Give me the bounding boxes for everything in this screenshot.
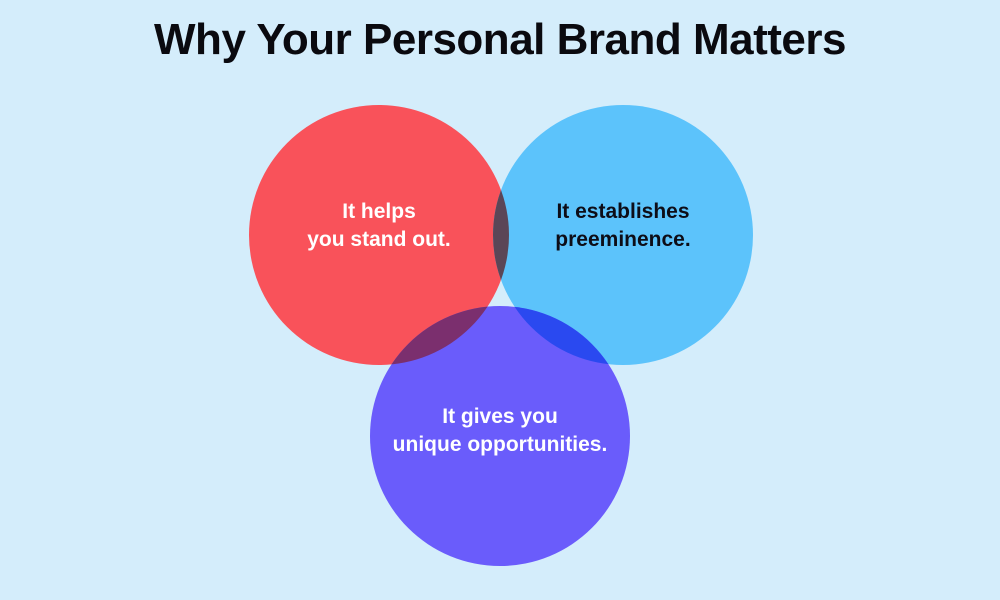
infographic-canvas: Why Your Personal Brand Matters — [0, 0, 1000, 600]
venn-diagram — [0, 0, 1000, 600]
